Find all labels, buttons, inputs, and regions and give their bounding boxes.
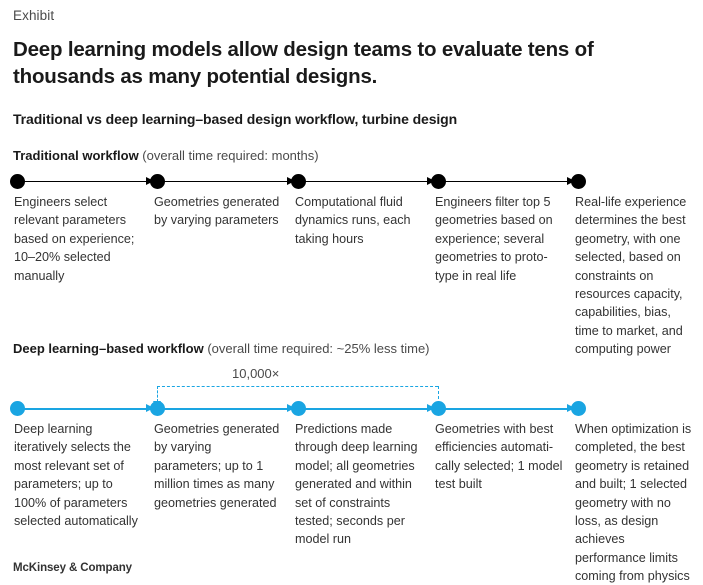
step-text-traditional-4: Engineers filter top 5 geometries based … — [435, 193, 563, 285]
timeline-node-traditional-2 — [150, 174, 165, 189]
section-title-deep-learning-strong: Deep learning–based workflow — [13, 341, 204, 356]
bracket-top-line — [157, 386, 438, 387]
exhibit-page: Exhibit Deep learning models allow desig… — [0, 0, 703, 582]
brand-footer: McKinsey & Company — [13, 562, 132, 574]
step-text-traditional-2: Geometries generated by varying paramete… — [154, 193, 282, 230]
timeline-node-traditional-3 — [291, 174, 306, 189]
step-text-deep-learning-1: Deep learning iteratively selects the mo… — [14, 420, 142, 530]
timeline-deep-learning — [0, 397, 703, 421]
eyebrow-label: Exhibit — [13, 8, 54, 23]
page-title: Deep learning models allow design teams … — [13, 36, 685, 91]
timeline-node-deep-learning-4 — [431, 401, 446, 416]
multiplier-label: 10,000× — [232, 366, 279, 381]
step-text-traditional-5: Real-life experience determines the best… — [575, 193, 697, 358]
step-text-traditional-3: Computational fluid dynamics runs, each … — [295, 193, 423, 248]
step-text-deep-learning-4: Geometries with best efficiencies automa… — [435, 420, 563, 494]
section-title-traditional-strong: Traditional workflow — [13, 148, 139, 163]
section-title-traditional-paren: (overall time required: months) — [139, 148, 319, 163]
timeline-node-deep-learning-5 — [571, 401, 586, 416]
step-text-deep-learning-2: Geometries generated by varying paramete… — [154, 420, 282, 512]
step-text-deep-learning-5: When optimization is completed, the best… — [575, 420, 697, 585]
step-text-deep-learning-3: Predictions made through deep learning m… — [295, 420, 423, 549]
timeline-node-traditional-1 — [10, 174, 25, 189]
timeline-node-deep-learning-2 — [150, 401, 165, 416]
step-text-traditional-1: Engineers select relevant parameters bas… — [14, 193, 142, 285]
timeline-traditional — [0, 170, 703, 194]
page-subtitle: Traditional vs deep learning–based desig… — [13, 111, 457, 127]
section-title-deep-learning: Deep learning–based workflow (overall ti… — [13, 341, 430, 356]
section-title-deep-learning-paren: (overall time required: ~25% less time) — [204, 341, 430, 356]
section-title-traditional: Traditional workflow (overall time requi… — [13, 148, 319, 163]
timeline-node-traditional-4 — [431, 174, 446, 189]
timeline-node-deep-learning-1 — [10, 401, 25, 416]
timeline-node-traditional-5 — [571, 174, 586, 189]
timeline-node-deep-learning-3 — [291, 401, 306, 416]
